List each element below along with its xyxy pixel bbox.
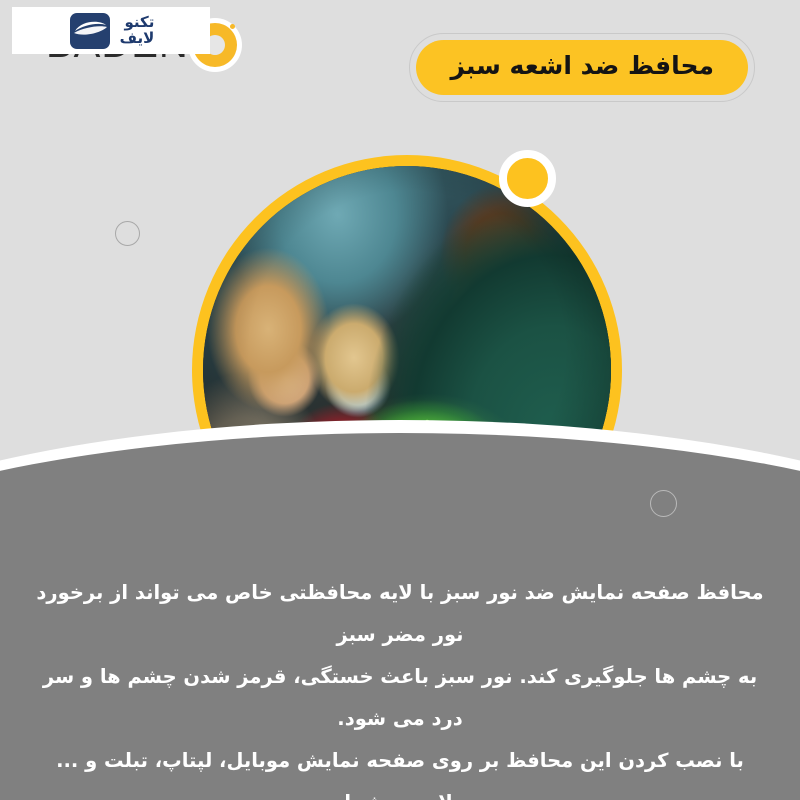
badge-label: محافظ ضد اشعه سبز: [450, 53, 714, 78]
outline-circle-icon-right: [650, 490, 677, 517]
banner-canvas: BADEN تکنو لایف محافظ ضد اشعه سبز محافظ …: [0, 0, 800, 800]
description-line: محافظ صفحه نمایش ضد نور سبز با لایه محاف…: [34, 572, 766, 656]
description-line: با نصب کردن این محافظ بر روی صفحه نمایش …: [34, 740, 766, 800]
technolife-logo-card[interactable]: تکنو لایف: [12, 7, 210, 54]
technolife-line-2: لایف: [120, 31, 155, 47]
accent-dot: [499, 150, 556, 207]
badge-outer-ring: محافظ ضد اشعه سبز: [409, 33, 755, 102]
description-block: محافظ صفحه نمایش ضد نور سبز با لایه محاف…: [0, 572, 800, 800]
outline-circle-icon-left: [115, 221, 140, 246]
description-line: به چشم ها جلوگیری کند. نور سبز باعث خستگ…: [34, 656, 766, 740]
capsule-mark-icon: [68, 11, 112, 51]
green-ray-protector-badge[interactable]: محافظ ضد اشعه سبز: [416, 40, 748, 95]
logo-block[interactable]: BADEN تکنو لایف: [0, 0, 300, 110]
baden-accent-dot-icon: [230, 24, 235, 29]
technolife-wordmark: تکنو لایف: [120, 15, 155, 47]
